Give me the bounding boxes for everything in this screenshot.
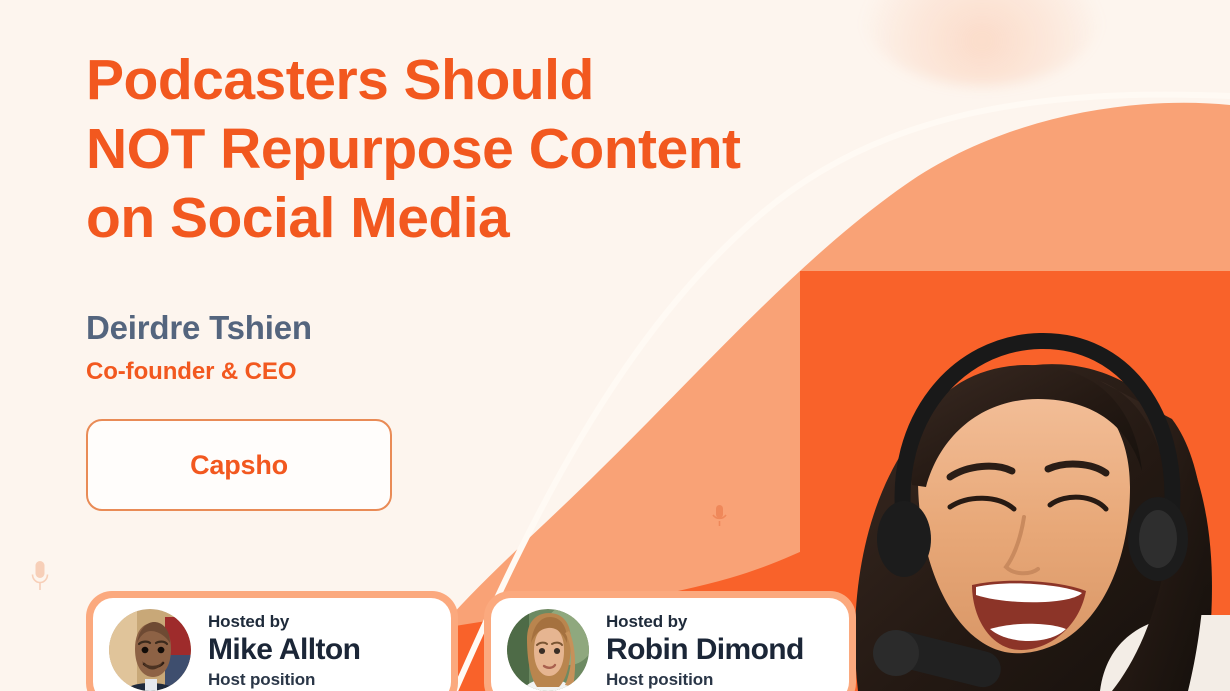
- headline-line-3: on Social Media: [86, 184, 846, 253]
- capsho-brand-label: Capsho: [190, 450, 288, 481]
- avatar-robin-dimond: [507, 609, 589, 691]
- host-card-inner: Hosted by Mike Allton Host position: [93, 598, 451, 691]
- avatar: [109, 609, 191, 691]
- content-column: Podcasters Should NOT Repurpose Content …: [0, 0, 880, 511]
- host-card-inner: Hosted by Robin Dimond Host position: [491, 598, 849, 691]
- host-name: Robin Dimond: [606, 632, 804, 667]
- speaker-role: Co-founder & CEO: [86, 358, 880, 386]
- headline-line-2: NOT Repurpose Content: [86, 115, 846, 184]
- avatar-mike-allton: [109, 609, 191, 691]
- speaker-name: Deirdre Tshien: [86, 309, 880, 347]
- capsho-brand-button[interactable]: Capsho: [86, 419, 392, 511]
- hosted-by-label: Hosted by: [208, 611, 360, 632]
- headline-line-1: Podcasters Should: [86, 46, 846, 115]
- host-card-list: Hosted by Mike Allton Host position: [86, 591, 856, 691]
- host-meta: Hosted by Robin Dimond Host position: [606, 611, 804, 690]
- host-card[interactable]: Hosted by Mike Allton Host position: [86, 591, 458, 691]
- hosted-by-label: Hosted by: [606, 611, 804, 632]
- host-name: Mike Allton: [208, 632, 360, 667]
- host-position: Host position: [606, 669, 804, 690]
- microphone-watermark: [30, 560, 50, 594]
- host-card[interactable]: Hosted by Robin Dimond Host position: [484, 591, 856, 691]
- page-title: Podcasters Should NOT Repurpose Content …: [86, 46, 846, 253]
- host-meta: Hosted by Mike Allton Host position: [208, 611, 360, 690]
- promo-slide: Podcasters Should NOT Repurpose Content …: [0, 0, 1230, 691]
- avatar: [507, 609, 589, 691]
- host-position: Host position: [208, 669, 360, 690]
